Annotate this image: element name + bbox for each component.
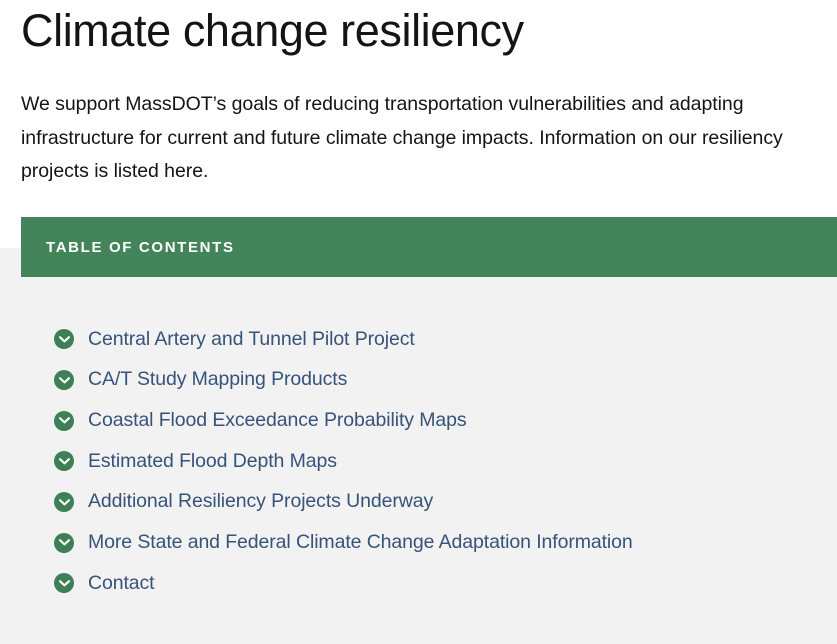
list-item[interactable]: Coastal Flood Exceedance Probability Map…: [0, 400, 837, 441]
list-item[interactable]: More State and Federal Climate Change Ad…: [0, 522, 837, 563]
chevron-down-circle-icon: [54, 451, 74, 471]
chevron-down-circle-icon: [54, 329, 74, 349]
toc-link-estimated-flood-depth-maps[interactable]: Estimated Flood Depth Maps: [88, 450, 337, 473]
table-of-contents-header-label: Table of contents: [46, 240, 235, 255]
toc-link-cat-study-mapping-products[interactable]: CA/T Study Mapping Products: [88, 368, 347, 391]
toc-link-central-artery-and-tunnel-pilot-project[interactable]: Central Artery and Tunnel Pilot Project: [88, 328, 415, 351]
chevron-down-circle-icon: [54, 492, 74, 512]
chevron-down-circle-icon: [54, 370, 74, 390]
table-of-contents-list: Central Artery and Tunnel Pilot Project …: [0, 319, 837, 604]
chevron-down-circle-icon: [54, 533, 74, 553]
list-item[interactable]: Additional Resiliency Projects Underway: [0, 482, 837, 523]
chevron-down-circle-icon: [54, 573, 74, 593]
list-item[interactable]: Contact: [0, 563, 837, 604]
list-item[interactable]: Central Artery and Tunnel Pilot Project: [0, 319, 837, 360]
toc-link-more-state-and-federal-climate-change-adaptation-information[interactable]: More State and Federal Climate Change Ad…: [88, 531, 633, 554]
list-item[interactable]: CA/T Study Mapping Products: [0, 360, 837, 401]
intro-paragraph: We support MassDOT’s goals of reducing t…: [21, 88, 796, 189]
page-title: Climate change resiliency: [21, 6, 524, 56]
toc-link-coastal-flood-exceedance-probability-maps[interactable]: Coastal Flood Exceedance Probability Map…: [88, 409, 467, 432]
list-item[interactable]: Estimated Flood Depth Maps: [0, 441, 837, 482]
toc-link-additional-resiliency-projects-underway[interactable]: Additional Resiliency Projects Underway: [88, 490, 433, 513]
toc-link-contact[interactable]: Contact: [88, 572, 155, 595]
chevron-down-circle-icon: [54, 411, 74, 431]
table-of-contents-header: Table of contents: [21, 217, 837, 277]
